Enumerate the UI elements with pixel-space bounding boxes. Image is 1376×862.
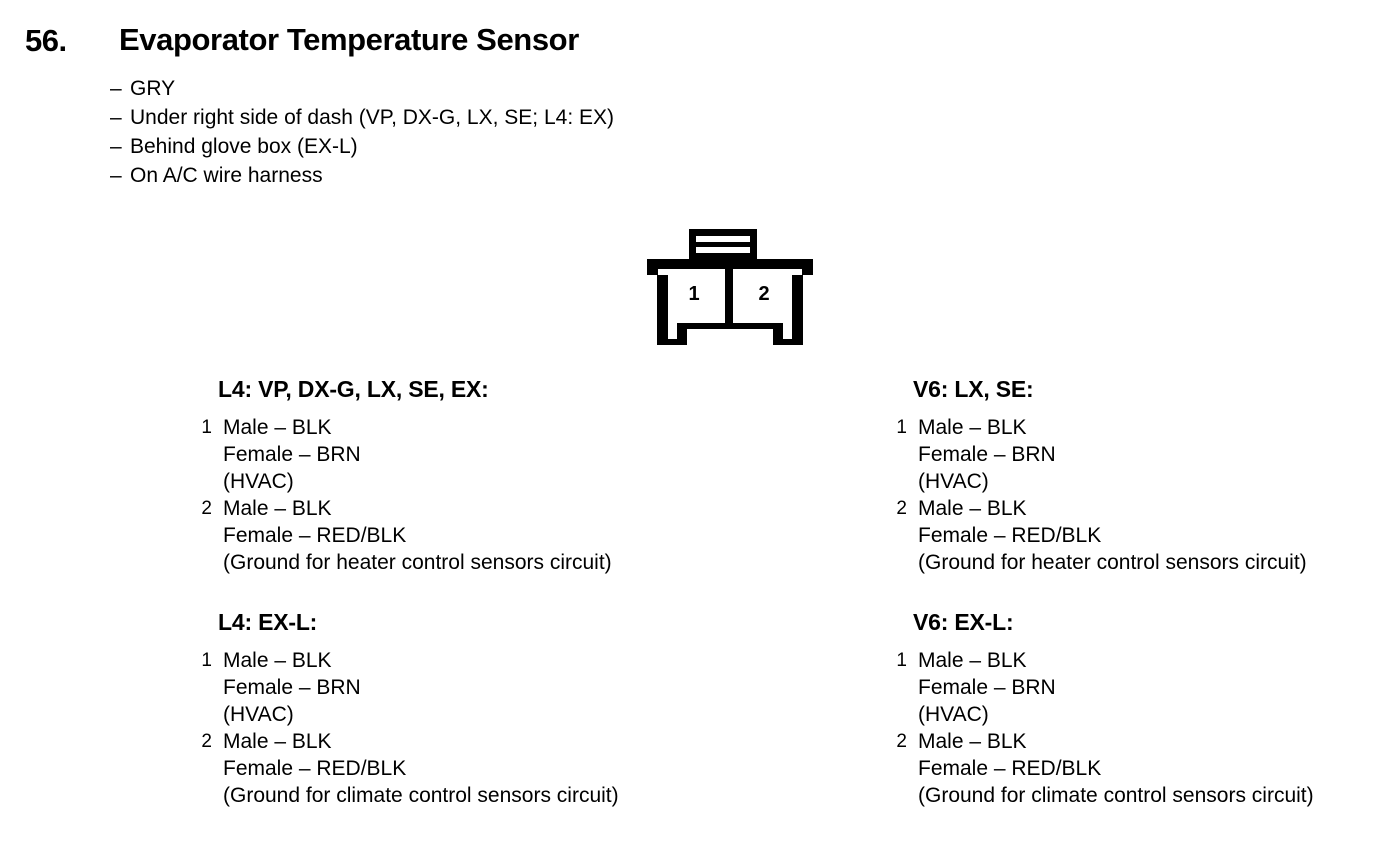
pin-detail-lines: Male – BLK Female – BRN (HVAC) [212, 414, 706, 495]
pin-number: 2 [881, 728, 907, 755]
pin-line: Male – BLK [918, 728, 1376, 755]
pin-line: (HVAC) [223, 468, 706, 495]
note-item: – Under right side of dash (VP, DX-G, LX… [110, 103, 1010, 132]
dash-bullet-icon: – [110, 103, 130, 132]
pin-line: (HVAC) [918, 468, 1376, 495]
block-heading: V6: EX-L: [913, 608, 1376, 636]
pinout-block: V6: EX-L: 1 Male – BLK Female – BRN (HVA… [881, 608, 1376, 809]
connector-diagram: 1 2 [645, 228, 815, 346]
pin-entry: 1 Male – BLK Female – BRN (HVAC) [186, 647, 706, 728]
page-title: Evaporator Temperature Sensor [119, 24, 579, 55]
pin-line: Male – BLK [223, 647, 706, 674]
pin-detail-lines: Male – BLK Female – RED/BLK (Ground for … [212, 728, 706, 809]
pin-detail-lines: Male – BLK Female – BRN (HVAC) [212, 647, 706, 728]
pin-entry: 2 Male – BLK Female – RED/BLK (Ground fo… [881, 728, 1376, 809]
pin-number: 2 [186, 495, 212, 522]
pin-line: (Ground for climate control sensors circ… [918, 782, 1376, 809]
section-number: 56. [25, 25, 67, 56]
note-item: – On A/C wire harness [110, 161, 1010, 190]
pin-line: Male – BLK [918, 414, 1376, 441]
pin-entry: 2 Male – BLK Female – RED/BLK (Ground fo… [186, 728, 706, 809]
pinout-block: L4: VP, DX-G, LX, SE, EX: 1 Male – BLK F… [186, 375, 706, 576]
pin-line: Female – BRN [918, 674, 1376, 701]
dash-bullet-icon: – [110, 161, 130, 190]
pinout-block: V6: LX, SE: 1 Male – BLK Female – BRN (H… [881, 375, 1376, 576]
pin-number: 2 [881, 495, 907, 522]
pin-number: 2 [186, 728, 212, 755]
pin-entry: 1 Male – BLK Female – BRN (HVAC) [881, 414, 1376, 495]
pin-number: 1 [881, 647, 907, 674]
dash-bullet-icon: – [110, 74, 130, 103]
pinout-column-right: V6: LX, SE: 1 Male – BLK Female – BRN (H… [881, 375, 1376, 809]
pin-entry: 1 Male – BLK Female – BRN (HVAC) [881, 647, 1376, 728]
pin-detail-lines: Male – BLK Female – BRN (HVAC) [907, 647, 1376, 728]
notes-list: – GRY – Under right side of dash (VP, DX… [110, 74, 1010, 190]
pin-line: Female – RED/BLK [918, 755, 1376, 782]
pin-entry: 2 Male – BLK Female – RED/BLK (Ground fo… [186, 495, 706, 576]
note-text: Behind glove box (EX-L) [130, 132, 358, 161]
pin-line: (Ground for heater control sensors circu… [223, 549, 706, 576]
pin-detail-lines: Male – BLK Female – RED/BLK (Ground for … [907, 495, 1376, 576]
pin-line: Female – BRN [918, 441, 1376, 468]
pin-number: 1 [186, 414, 212, 441]
pin-line: Male – BLK [223, 414, 706, 441]
pin-label-1: 1 [688, 283, 699, 305]
pin-line: Female – RED/BLK [223, 522, 706, 549]
pinout-block: L4: EX-L: 1 Male – BLK Female – BRN (HVA… [186, 608, 706, 809]
block-heading: L4: EX-L: [218, 608, 706, 636]
block-heading: L4: VP, DX-G, LX, SE, EX: [218, 375, 706, 403]
note-text: Under right side of dash (VP, DX-G, LX, … [130, 103, 614, 132]
pin-line: Female – BRN [223, 441, 706, 468]
pin-line: (HVAC) [223, 701, 706, 728]
pin-line: Male – BLK [918, 647, 1376, 674]
note-item: – Behind glove box (EX-L) [110, 132, 1010, 161]
pin-detail-lines: Male – BLK Female – BRN (HVAC) [907, 414, 1376, 495]
note-text: On A/C wire harness [130, 161, 323, 190]
note-item: – GRY [110, 74, 1010, 103]
block-heading: V6: LX, SE: [913, 375, 1376, 403]
pin-line: Female – RED/BLK [918, 522, 1376, 549]
pin-line: Male – BLK [223, 728, 706, 755]
pin-label-2: 2 [758, 283, 769, 305]
pin-detail-lines: Male – BLK Female – RED/BLK (Ground for … [212, 495, 706, 576]
pinout-column-left: L4: VP, DX-G, LX, SE, EX: 1 Male – BLK F… [186, 375, 706, 809]
pin-number: 1 [881, 414, 907, 441]
pin-line: (Ground for climate control sensors circ… [223, 782, 706, 809]
pin-line: (HVAC) [918, 701, 1376, 728]
pin-line: Male – BLK [223, 495, 706, 522]
pin-line: Male – BLK [918, 495, 1376, 522]
pin-line: Female – RED/BLK [223, 755, 706, 782]
two-pin-connector-icon: 1 2 [645, 228, 815, 346]
dash-bullet-icon: – [110, 132, 130, 161]
pin-line: (Ground for heater control sensors circu… [918, 549, 1376, 576]
pin-detail-lines: Male – BLK Female – RED/BLK (Ground for … [907, 728, 1376, 809]
pin-entry: 1 Male – BLK Female – BRN (HVAC) [186, 414, 706, 495]
pin-number: 1 [186, 647, 212, 674]
pin-line: Female – BRN [223, 674, 706, 701]
pin-entry: 2 Male – BLK Female – RED/BLK (Ground fo… [881, 495, 1376, 576]
note-text: GRY [130, 74, 175, 103]
